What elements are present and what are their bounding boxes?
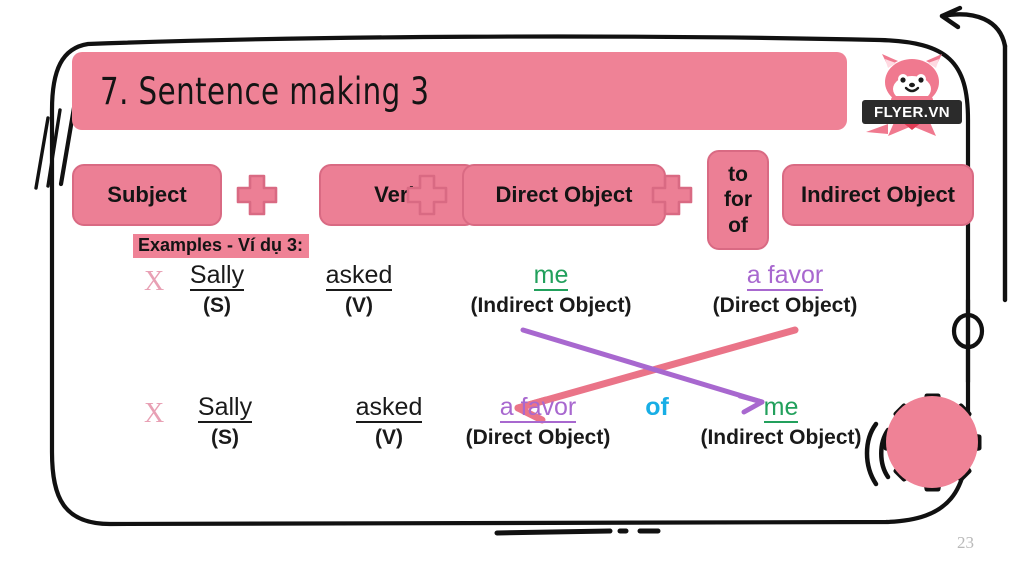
token-role: (S) xyxy=(160,426,290,450)
logo-banner-text: FLYER.VN xyxy=(874,104,950,121)
title-bar: 7. Sentence making 3 xyxy=(72,52,847,130)
token-word: a favor xyxy=(500,394,576,423)
token-word: me xyxy=(764,394,799,423)
dashed-accent-line xyxy=(497,531,658,533)
preposition-of: of xyxy=(728,213,748,239)
preposition-to: to xyxy=(728,162,748,188)
plus-icon xyxy=(650,173,694,217)
example-token: Sally (S) xyxy=(152,262,282,318)
slide-canvas: 7. Sentence making 3 FLYER.VN Subject xyxy=(0,0,1024,576)
plus-icon xyxy=(235,173,279,217)
plus-icon xyxy=(405,173,449,217)
example-token: me (Indirect Object) xyxy=(683,394,879,450)
fox-mascot-icon xyxy=(858,52,966,138)
token-word: asked xyxy=(356,394,423,423)
page-number: 23 xyxy=(957,533,974,553)
logo-banner: FLYER.VN xyxy=(862,100,962,124)
token-role: (Indirect Object) xyxy=(452,294,650,318)
token-role: (Direct Object) xyxy=(440,426,636,450)
token-word: asked xyxy=(326,262,393,291)
page-title: 7. Sentence making 3 xyxy=(100,70,429,113)
example-token: me (Indirect Object) xyxy=(452,262,650,318)
token-word: a favor xyxy=(747,262,823,291)
token-word: of xyxy=(645,394,669,421)
formula-box-verb[interactable]: Verb xyxy=(319,164,477,226)
gear-pink-blob xyxy=(886,396,978,488)
speed-lines-icon xyxy=(36,96,76,188)
token-role: (V) xyxy=(294,294,424,318)
formula-box-indirect-object[interactable]: Indirect Object xyxy=(782,164,974,226)
formula-box-subject[interactable]: Subject xyxy=(72,164,222,226)
flyer-vn-logo: FLYER.VN xyxy=(858,52,966,138)
example-token: asked (V) xyxy=(294,262,424,318)
example-token: a favor (Direct Object) xyxy=(440,394,636,450)
token-role: (V) xyxy=(324,426,454,450)
example-token: Sally (S) xyxy=(160,394,290,450)
example-token: a favor (Direct Object) xyxy=(690,262,880,318)
token-word: Sally xyxy=(198,394,252,423)
token-word: Sally xyxy=(190,262,244,291)
circle-bead-icon xyxy=(954,300,982,382)
formula-box-prepositions[interactable]: to for of xyxy=(707,150,769,250)
token-role: (Indirect Object) xyxy=(683,426,879,450)
formula-box-direct-object[interactable]: Direct Object xyxy=(462,164,666,226)
token-role: (S) xyxy=(152,294,282,318)
examples-label: Examples - Ví dụ 3: xyxy=(133,234,309,258)
token-role: (Direct Object) xyxy=(690,294,880,318)
token-word: me xyxy=(534,262,569,291)
example-token: asked (V) xyxy=(324,394,454,450)
example-token: of xyxy=(622,394,692,424)
preposition-for: for xyxy=(724,187,752,213)
